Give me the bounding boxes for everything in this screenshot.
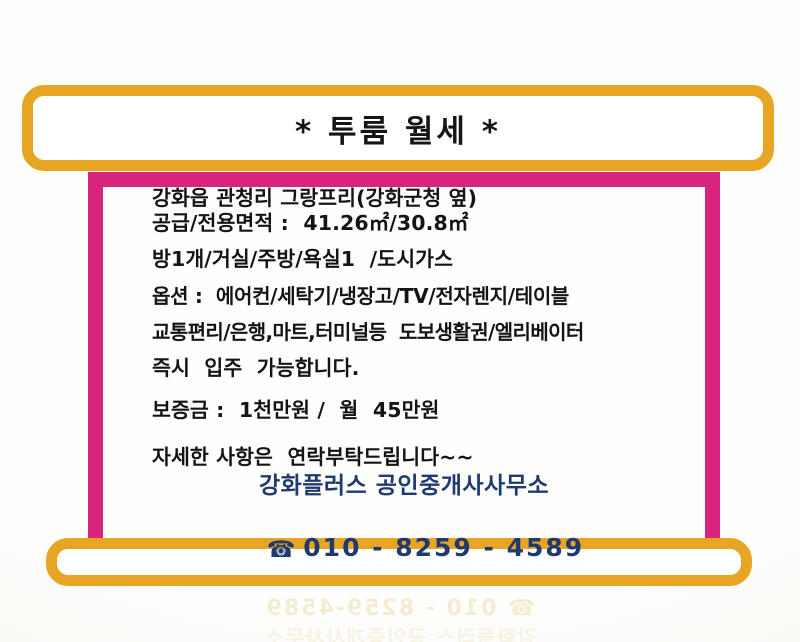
flyer-canvas: * 투룸 월세 * 강화읍 관청리 그랑프리(강화군청 옆) 공급/전용면적 :… [0,0,800,642]
listing-options: 옵션 : 에어컨/세탁기/냉장고/TV/전자렌지/테이블 [110,286,710,306]
listing-price: 보증금 : 1천만원 / 월 45만원 [110,400,710,421]
page-title: * 투룸 월세 * [22,85,774,171]
phone-number: 010 - 8259 - 4589 [303,533,584,562]
magenta-frame-top-bar [88,172,720,187]
listing-address: 강화읍 관청리 그랑프리(강화군청 옆) [110,188,710,209]
listing-room-layout: 방1개/거실/주방/욕실1 /도시가스 [110,249,710,270]
listing-note: 자세한 사항은 연락부탁드립니다~~ [110,447,710,468]
agency-name: 강화플러스 공인중개사사무소 [103,466,705,500]
listing-availability: 즉시 입주 가능합니다. [110,358,710,379]
listing-accessibility: 교통편리/은행,마트,터미널등 도보생활권/엘리베이터 [110,322,710,342]
bleedthrough-ghost-line-1: ☎ 010 - 8259-4589 [0,596,800,621]
listing-area: 공급/전용면적 : 41.26㎡/30.8㎡ [110,213,710,234]
listing-details: 강화읍 관청리 그랑프리(강화군청 옆) 공급/전용면적 : 41.26㎡/30… [110,188,710,481]
telephone-icon: ☎ [267,537,298,563]
contact-phone[interactable]: ☎010 - 8259 - 4589 [103,504,705,592]
magenta-frame-left-bar [88,172,103,557]
bleedthrough-ghost-line-2: 강화플러스 공인중개사사무소 [0,622,800,642]
